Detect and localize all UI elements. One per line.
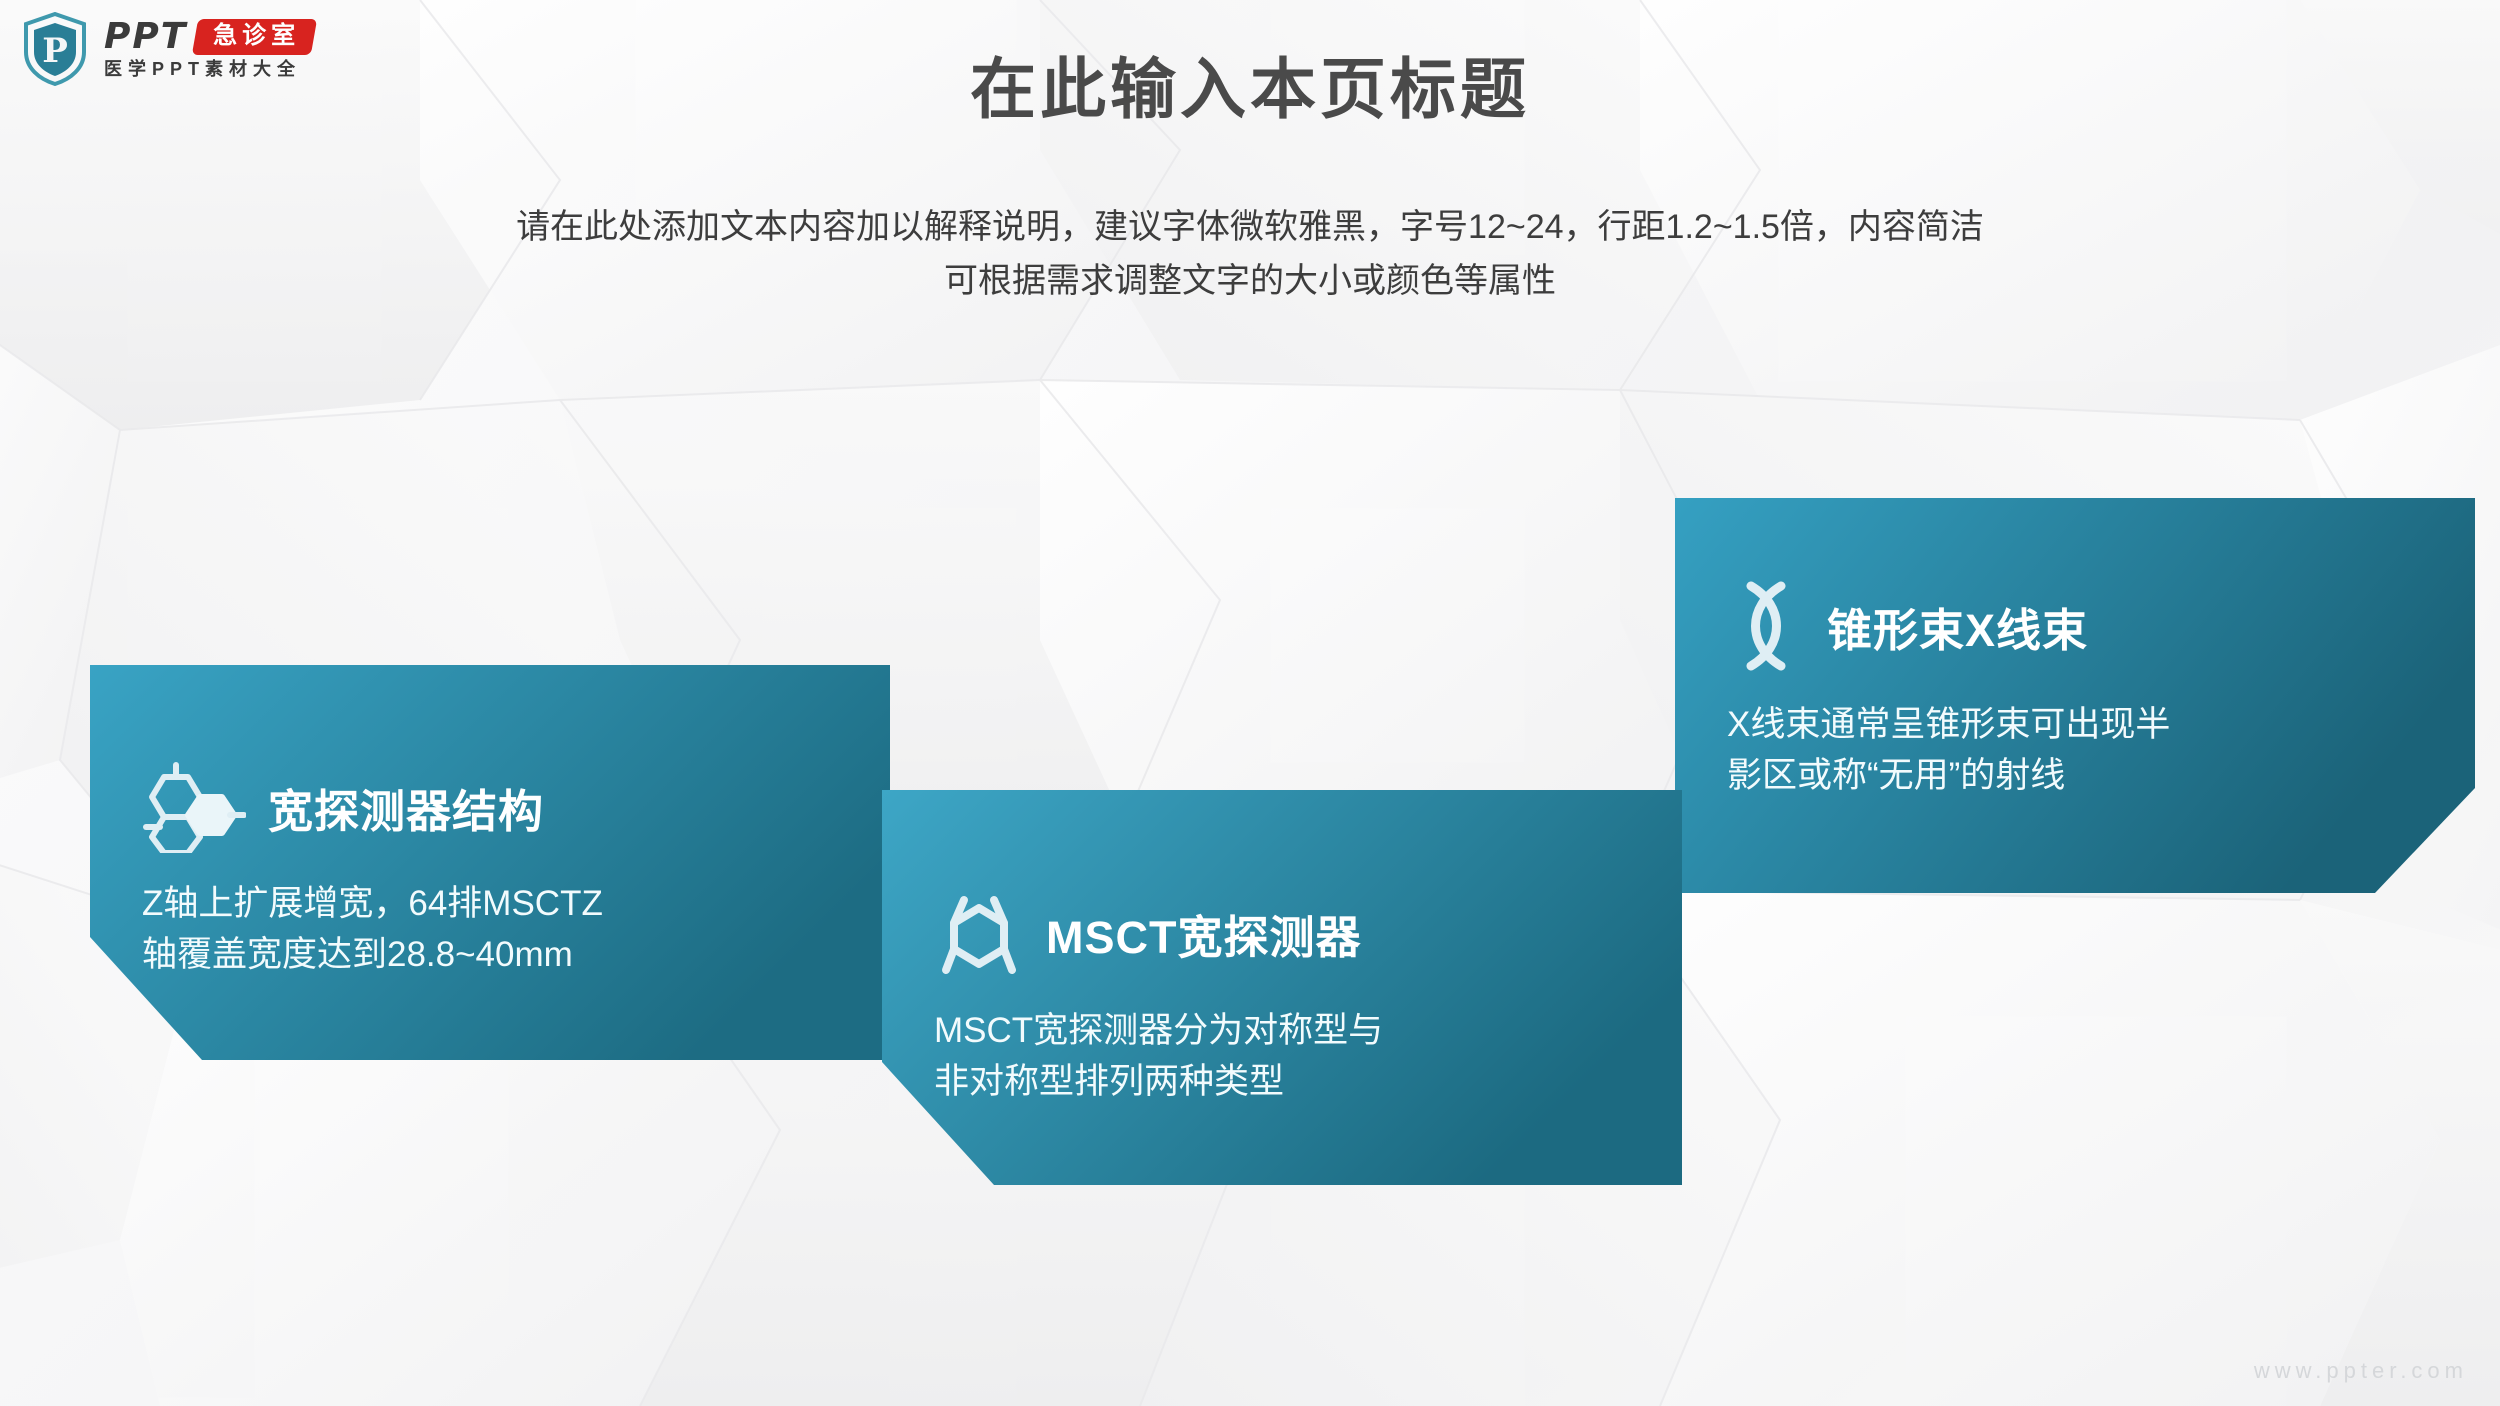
card-cone-beam[interactable]: 锥形束X线束 X线束通常呈锥形束可出现半 影区或称“无用”的射线 (1675, 498, 2475, 893)
site-watermark: www.ppter.com (2254, 1358, 2468, 1384)
card-body-line-1: MSCT宽探测器分为对称型与 (934, 1006, 1682, 1057)
card-body-line-2: 轴覆盖宽度达到28.8~40mm (142, 930, 890, 981)
molecule-hexagon-icon (142, 761, 246, 853)
card-header: MSCT宽探测器 (934, 886, 1682, 980)
card-body-line-1: Z轴上扩展增宽，64排MSCTZ (142, 879, 890, 930)
slide-canvas: P PPT 急诊室 医学PPT素材大全 在此输入本页标题 请在此处添加文本内容加… (0, 0, 2500, 1406)
subtitle-line-2: 可根据需求调整文字的大小或颜色等属性 (270, 254, 2230, 308)
hexagon-spokes-icon (934, 886, 1024, 980)
card-body-line-2: 影区或称“无用”的射线 (1727, 751, 2475, 802)
card-body-line-1: X线束通常呈锥形束可出现半 (1727, 700, 2475, 751)
card-body: X线束通常呈锥形束可出现半 影区或称“无用”的射线 (1727, 700, 2475, 802)
card-title: MSCT宽探测器 (1046, 901, 1362, 966)
card-body: MSCT宽探测器分为对称型与 非对称型排列两种类型 (934, 1006, 1682, 1108)
card-msct-wide-detector[interactable]: MSCT宽探测器 MSCT宽探测器分为对称型与 非对称型排列两种类型 (882, 790, 1682, 1185)
subtitle-line-1: 请在此处添加文本内容加以解释说明，建议字体微软雅黑，字号12~24，行距1.2~… (270, 200, 2230, 254)
page-title: 在此输入本页标题 (0, 36, 2500, 132)
card-body-line-2: 非对称型排列两种类型 (934, 1057, 1682, 1108)
card-content: 锥形束X线束 X线束通常呈锥形束可出现半 影区或称“无用”的射线 (1675, 498, 2475, 893)
dna-helix-icon (1727, 578, 1805, 674)
page-subtitle: 请在此处添加文本内容加以解释说明，建议字体微软雅黑，字号12~24，行距1.2~… (270, 200, 2230, 309)
card-title: 宽探测器结构 (268, 775, 544, 840)
card-header: 宽探测器结构 (142, 761, 890, 853)
card-content: MSCT宽探测器 MSCT宽探测器分为对称型与 非对称型排列两种类型 (882, 790, 1682, 1185)
card-title: 锥形束X线束 (1827, 594, 2088, 659)
card-header: 锥形束X线束 (1727, 578, 2475, 674)
card-body: Z轴上扩展增宽，64排MSCTZ 轴覆盖宽度达到28.8~40mm (142, 879, 890, 981)
card-content: 宽探测器结构 Z轴上扩展增宽，64排MSCTZ 轴覆盖宽度达到28.8~40mm (90, 665, 890, 1060)
card-wide-detector-structure[interactable]: 宽探测器结构 Z轴上扩展增宽，64排MSCTZ 轴覆盖宽度达到28.8~40mm (90, 665, 890, 1060)
